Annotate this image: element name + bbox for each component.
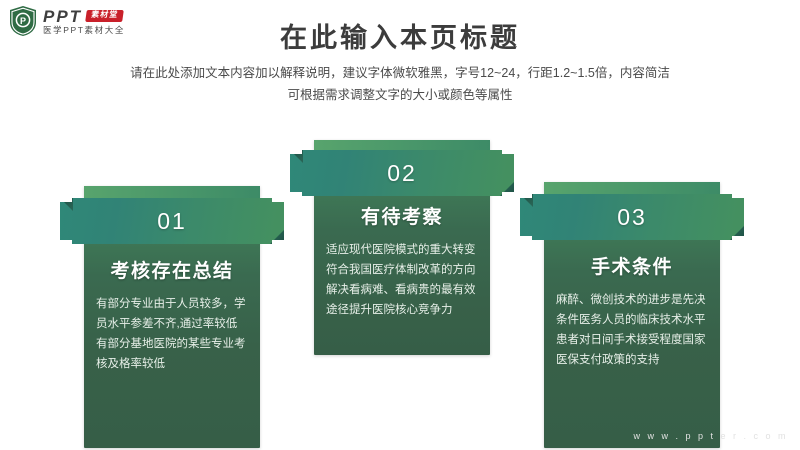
ribbon-fold-left-icon bbox=[60, 198, 73, 211]
card-number-03: 03 bbox=[617, 204, 647, 231]
card-text-02: 适应现代医院模式的重大转变符合我国医疗体制改革的方向解决看病难、看病贵的最有效途… bbox=[326, 240, 478, 320]
card-ribbon-01: 01 bbox=[60, 198, 284, 244]
card-heading-02: 有待考察 bbox=[314, 202, 490, 229]
subtitle-line-2: 可根据需求调整文字的大小或颜色等属性 bbox=[0, 84, 800, 106]
card-number-02: 02 bbox=[387, 160, 417, 187]
card-heading-03: 手术条件 bbox=[544, 252, 720, 279]
page-subtitle: 请在此处添加文本内容加以解释说明，建议字体微软雅黑，字号12~24，行距1.2~… bbox=[0, 62, 800, 106]
card-ribbon-02: 02 bbox=[290, 150, 514, 196]
card-text-03: 麻醉、微创技术的进步是先决条件医务人员的临床技术水平患者对日间手术接受程度国家医… bbox=[556, 290, 708, 370]
card-text-01: 有部分专业由于人员较多，学员水平参差不齐,通过率较低有部分基地医院的某些专业考核… bbox=[96, 294, 248, 374]
page-title: 在此输入本页标题 bbox=[0, 16, 800, 55]
footer-watermark: w w w . p p t e r . c o m bbox=[633, 431, 788, 441]
ribbon-fold-right-icon bbox=[730, 226, 744, 240]
ribbon-fold-left-icon bbox=[520, 194, 533, 207]
card-number-01: 01 bbox=[157, 208, 187, 235]
subtitle-line-1: 请在此处添加文本内容加以解释说明，建议字体微软雅黑，字号12~24，行距1.2~… bbox=[0, 62, 800, 84]
ribbon-fold-right-icon bbox=[270, 230, 284, 244]
ribbon-fold-right-icon bbox=[500, 182, 514, 196]
card-ribbon-03: 03 bbox=[520, 194, 744, 240]
ribbon-fold-left-icon bbox=[290, 150, 303, 163]
card-heading-01: 考核存在总结 bbox=[84, 256, 260, 283]
